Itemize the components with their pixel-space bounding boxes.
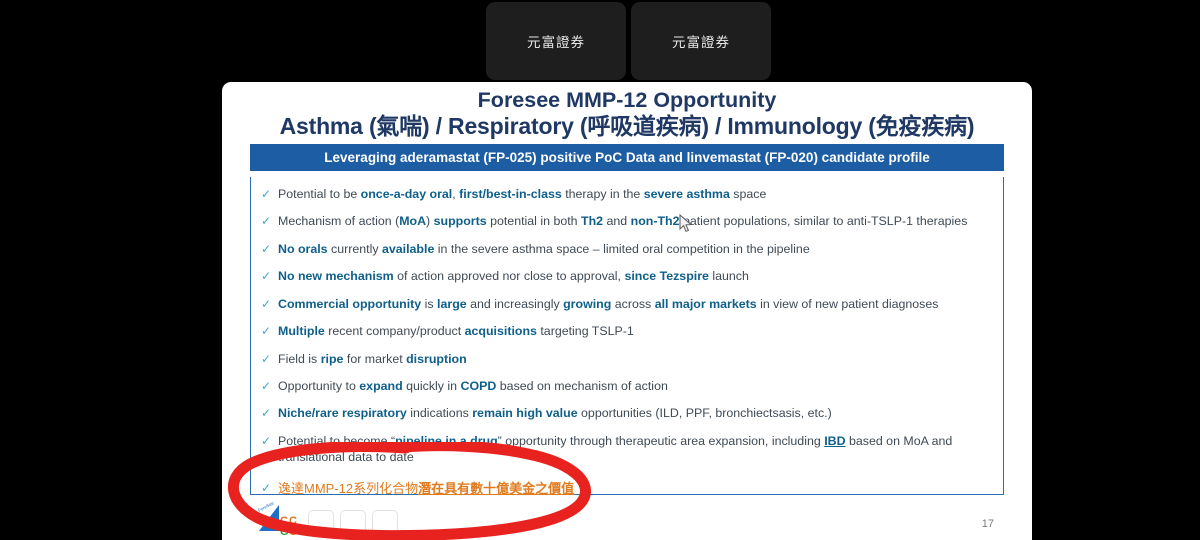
svg-text:ForeSee: ForeSee	[257, 502, 275, 513]
check-icon: ✓	[261, 186, 278, 203]
bullet-text: Niche/rare respiratory indications remai…	[278, 405, 995, 421]
check-icon: ✓	[261, 213, 278, 230]
browser-tab-strip: 元富證券 元富證券	[0, 0, 1200, 82]
check-icon: ✓	[261, 480, 278, 497]
watermark-icon-1	[308, 510, 334, 534]
bullet-once-a-day-oral: ✓Potential to be once-a-day oral, first/…	[261, 186, 995, 203]
presentation-slide[interactable]: Foresee MMP-12 Opportunity Asthma (氣喘) /…	[222, 82, 1032, 540]
bullet-text: Potential to be once-a-day oral, first/b…	[278, 186, 995, 202]
bullet-mechanism-of-action: ✓Mechanism of action (MoA) supports pote…	[261, 213, 995, 230]
bullet-list-container: ✓Potential to be once-a-day oral, first/…	[250, 177, 1004, 495]
bullet-text: Opportunity to expand quickly in COPD ba…	[278, 378, 995, 394]
check-icon: ✓	[261, 241, 278, 258]
bullet-text: Mechanism of action (MoA) supports poten…	[278, 213, 995, 229]
check-icon: ✓	[261, 268, 278, 285]
bullet-list: ✓Potential to be once-a-day oral, first/…	[261, 186, 995, 497]
bullet-niche-rare-respiratory: ✓Niche/rare respiratory indications rema…	[261, 405, 995, 422]
bullet-commercial-opportunity: ✓Commercial opportunity is large and inc…	[261, 296, 995, 313]
bullet-text: Multiple recent company/product acquisit…	[278, 323, 995, 339]
bullet-no-new-mechanism: ✓No new mechanism of action approved nor…	[261, 268, 995, 285]
watermark-icon-2	[340, 510, 366, 534]
bullet-field-is-ripe: ✓Field is ripe for market disruption	[261, 351, 995, 368]
slide-footer: ForeSee C C G C 17	[222, 495, 1032, 540]
tab-label: 元富證券	[672, 31, 730, 51]
bullet-multiple-acquisitions: ✓Multiple recent company/product acquisi…	[261, 323, 995, 340]
bullet-expand-copd: ✓Opportunity to expand quickly in COPD b…	[261, 378, 995, 395]
slide-title-block: Foresee MMP-12 Opportunity Asthma (氣喘) /…	[222, 82, 1032, 140]
check-icon: ✓	[261, 433, 278, 450]
check-icon: ✓	[261, 323, 278, 340]
svg-text:C: C	[289, 526, 297, 538]
bullet-text: No new mechanism of action approved nor …	[278, 268, 995, 284]
slide-banner: Leveraging aderamastat (FP-025) positive…	[250, 144, 1004, 171]
bullet-text: Commercial opportunity is large and incr…	[278, 296, 995, 312]
check-icon: ✓	[261, 405, 278, 422]
tab-label: 元富證券	[527, 31, 585, 51]
svg-text:G: G	[280, 526, 289, 538]
screen: 元富證券 元富證券 Foresee MMP-12 Opportunity Ast…	[0, 0, 1200, 540]
check-icon: ✓	[261, 296, 278, 313]
tab-yuanta-2[interactable]: 元富證券	[631, 2, 771, 80]
bullet-pipeline-in-a-drug: ✓Potential to become “pipeline in a drug…	[261, 433, 995, 466]
slide-banner-text: Leveraging aderamastat (FP-025) positive…	[324, 150, 929, 165]
bullet-no-orals: ✓No orals currently available in the sev…	[261, 241, 995, 258]
page-number: 17	[982, 518, 994, 530]
slide-title-line-1: Foresee MMP-12 Opportunity	[222, 88, 1032, 113]
slide-title-line-2: Asthma (氣喘) / Respiratory (呼吸道疾病) / Immu…	[222, 113, 1032, 140]
check-icon: ✓	[261, 351, 278, 368]
bullet-text: No orals currently available in the seve…	[278, 241, 995, 257]
bullet-text: Field is ripe for market disruption	[278, 351, 995, 367]
watermark-icon-3	[372, 510, 398, 534]
bullet-text: Potential to become “pipeline in a drug”…	[278, 433, 995, 466]
check-icon: ✓	[261, 378, 278, 395]
foresee-cgc-logo-icon: ForeSee C C G C	[256, 502, 308, 538]
mouse-cursor	[679, 214, 693, 234]
tab-yuanta-1[interactable]: 元富證券	[486, 2, 626, 80]
